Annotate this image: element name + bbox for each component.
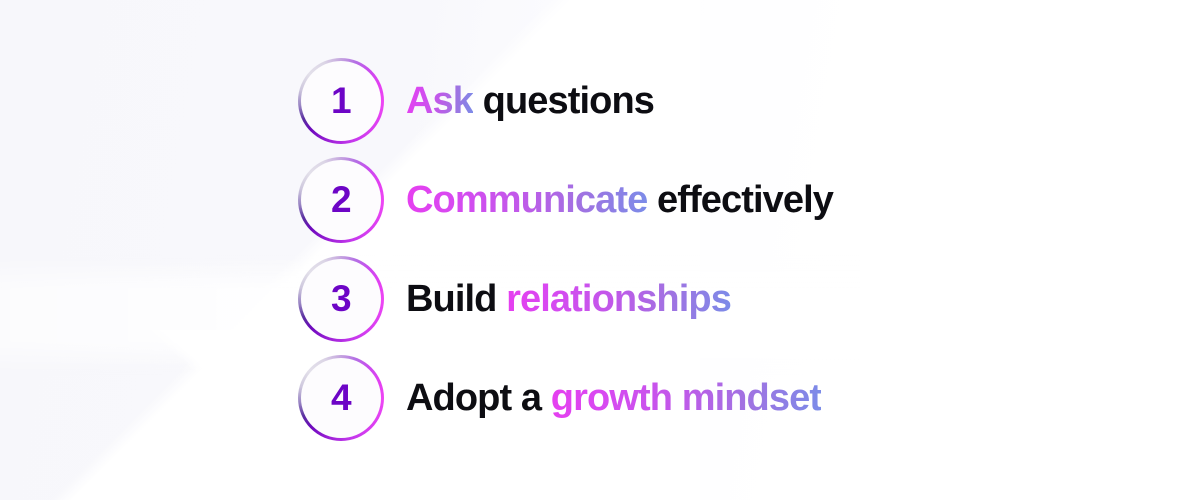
list-item-text-3-highlight: relationships [506, 278, 731, 320]
list-item-text-4-highlight: growth mindset [551, 377, 821, 419]
list-item[interactable]: 3 Build relationships [298, 256, 731, 342]
list-item-text-1: Ask questions [406, 82, 654, 120]
list-item-text-2: Communicate effectively [406, 181, 833, 219]
list-item[interactable]: 2 Communicate effectively [298, 157, 833, 243]
badge-number-label: 4 [331, 379, 351, 418]
badge-number-label: 2 [331, 181, 351, 220]
number-badge-4: 4 [298, 355, 384, 441]
slide-canvas: 1 Ask questions 2 Communicate effectivel… [0, 0, 1200, 500]
list-item-text-3: Build relationships [406, 280, 731, 318]
list-item-text-3-plain: Build [406, 278, 506, 320]
list-item-text-4-plain: Adopt a [406, 377, 551, 419]
number-badge-1: 1 [298, 58, 384, 144]
badge-number-label: 3 [331, 280, 351, 319]
number-badge-3: 3 [298, 256, 384, 342]
list-item[interactable]: 1 Ask questions [298, 58, 654, 144]
list-item-text-4: Adopt a growth mindset [406, 379, 821, 417]
list-item[interactable]: 4 Adopt a growth mindset [298, 355, 821, 441]
list-item-text-1-highlight: Ask [406, 80, 473, 122]
list-item-text-2-plain: effectively [647, 179, 833, 221]
list-item-text-1-plain: questions [473, 80, 654, 122]
number-badge-2: 2 [298, 157, 384, 243]
badge-number-label: 1 [331, 82, 351, 121]
list-item-text-2-highlight: Communicate [406, 179, 647, 221]
numbered-list: 1 Ask questions 2 Communicate effectivel… [0, 0, 1200, 500]
